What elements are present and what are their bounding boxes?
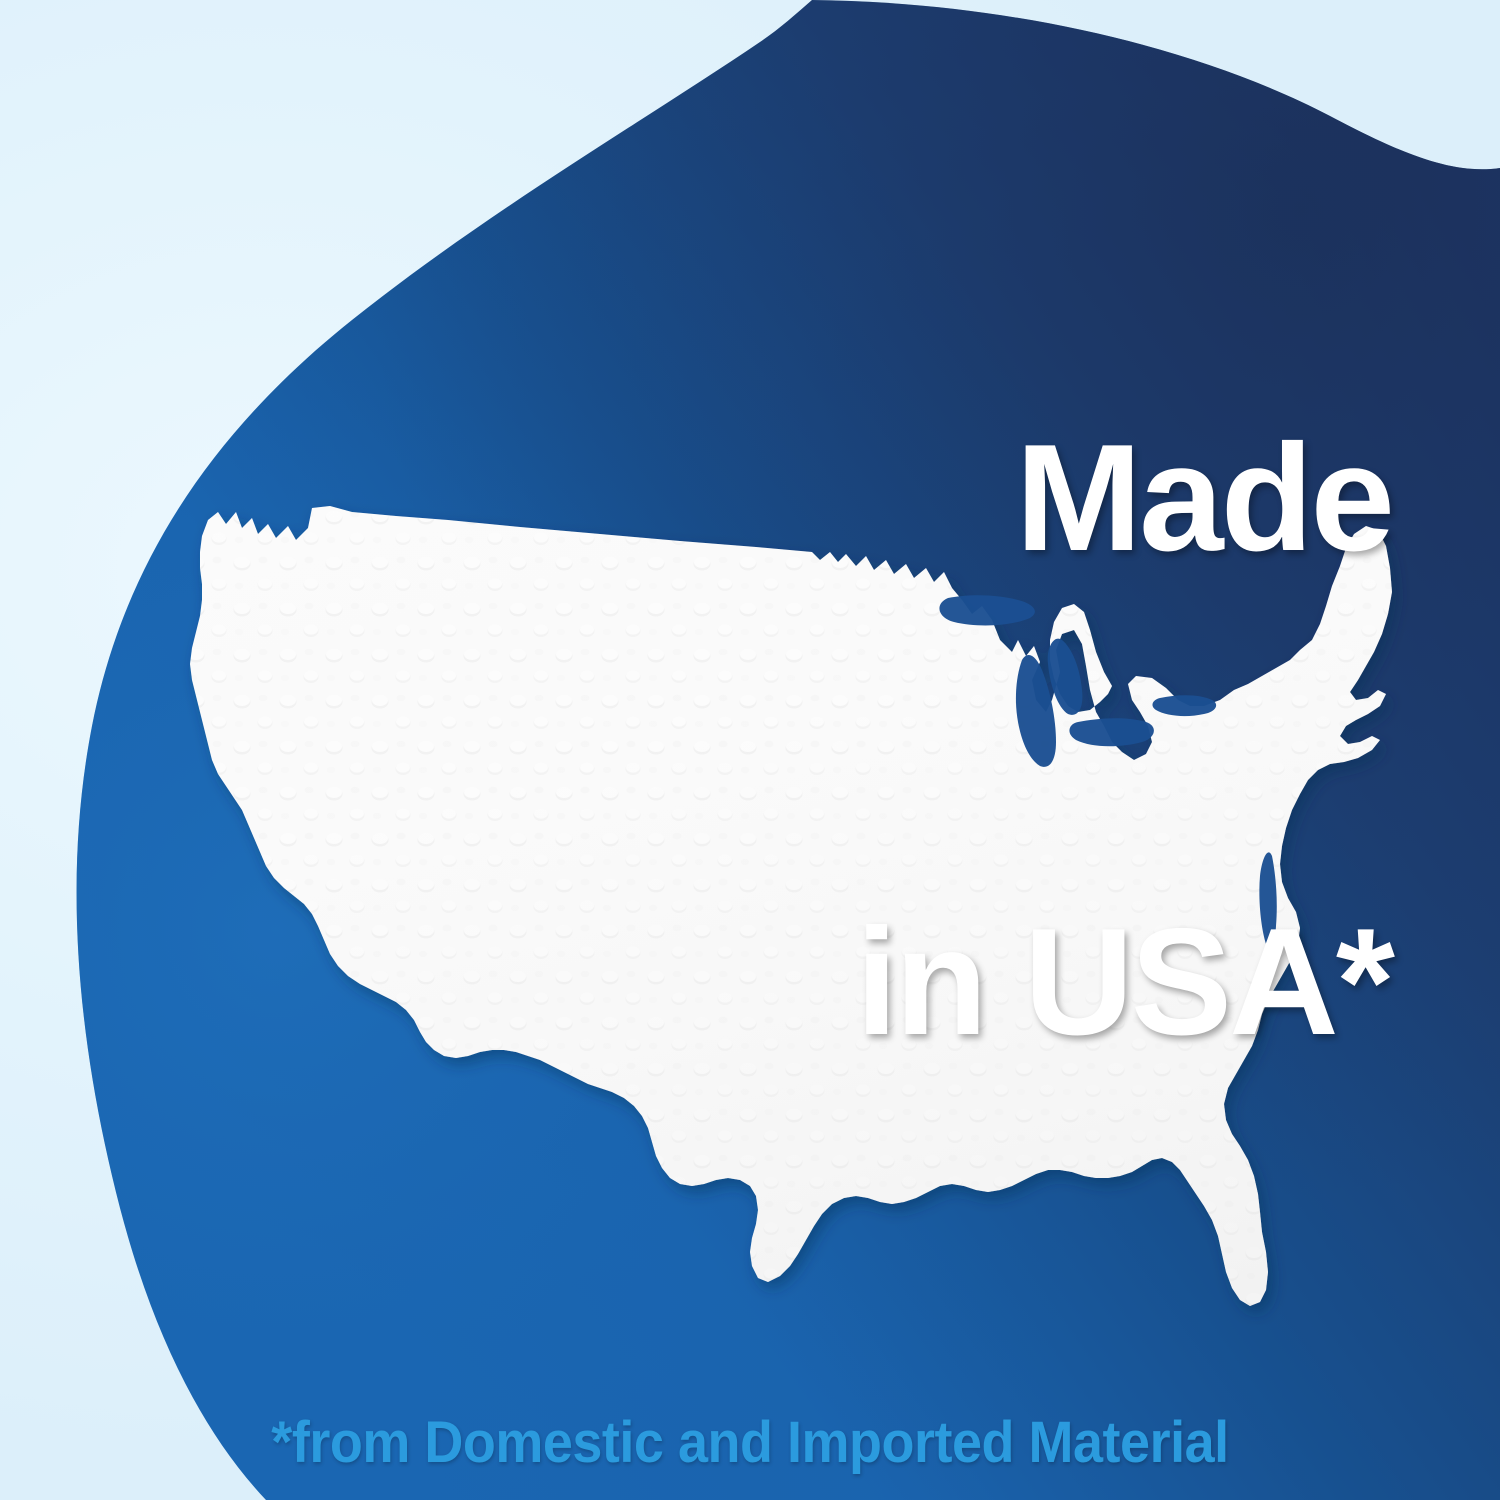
made-in-usa-graphic: Made in USA* *from Domestic and Imported… <box>0 0 1500 1500</box>
headline-line-1: Made <box>856 418 1392 579</box>
footnote-disclaimer: *from Domestic and Imported Material <box>53 1409 1448 1476</box>
page-title: Made in USA* <box>856 96 1392 1385</box>
headline-line-2: in USA* <box>856 902 1392 1063</box>
